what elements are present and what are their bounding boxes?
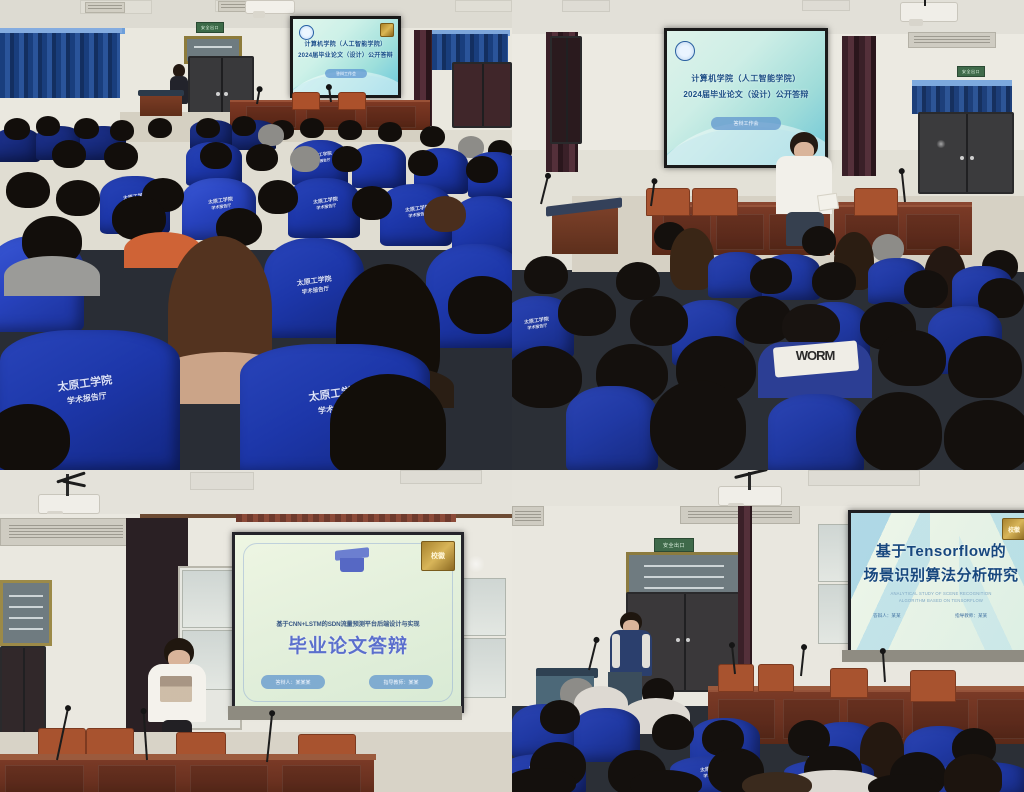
slide-line1: 计算机学院（人工智能学院） [667,73,825,85]
hall-door [918,112,1014,194]
slide-meta-presenter: 答辩人：某某 [873,613,901,619]
audience-head [878,330,946,386]
panel-top-right: 安全出口 计算机学院（人工智能学院） 2024届毕业论文（设计）公开答辩 答辩工… [512,0,1024,470]
stage-chair [854,188,898,216]
screen-base [842,650,1024,662]
audience-head-foreground [944,400,1024,470]
audience-head [448,276,512,334]
speaker [774,132,836,242]
stage-chair [718,664,754,692]
audience-head [332,146,362,172]
air-vent [512,506,544,526]
slide-line2: 2024届毕业论文（设计）公开答辩 [667,89,825,101]
audience-head [56,180,100,216]
window-curtain [912,86,1012,114]
audience-head [540,700,580,734]
projector-cable [924,0,926,6]
valance [236,514,456,522]
audience-head [378,122,402,142]
slide-pill: 答辩工作会 [325,69,367,78]
school-badge: 校徽 [1002,518,1024,540]
ceiling-tile [400,470,482,484]
exit-sign: 安全出口 [196,22,224,33]
handout-paper [817,193,839,212]
ceiling-tile [808,470,920,486]
projection-screen: 计算机学院（人工智能学院） 2024届毕业论文（设计）公开答辩 答辩工作会 [290,16,401,98]
audience-head [750,258,792,294]
panel-top-left: 安全出口 计算机学院（人工智能学院） 2024届毕业论文（设计）公开答辩 答辩工… [0,0,512,470]
audience-head [424,196,466,232]
audience-head [616,262,660,300]
audience-head [944,754,1002,792]
shirt-text: WORM [758,348,872,363]
audience-head [200,142,232,169]
university-emblem-icon [675,41,695,61]
exit-sign: 安全出口 [957,66,985,77]
projection-screen: 校徽 基于Tensorflow的 场景识别算法分析研究 ANALYTICAL S… [848,510,1024,656]
shirt-graphic [160,676,192,702]
audience-head [352,186,392,220]
slide-line1: 计算机学院（人工智能学院） [293,41,398,50]
audience-head [812,262,856,300]
audience-head [524,256,568,294]
audience-head [148,118,172,138]
slide-title-line2: 场景识别算法分析研究 [851,565,1024,587]
audience-head [36,116,60,136]
door-glare [936,140,946,148]
slide-english-line1: ANALYTICAL STUDY OF SCENE RECOGNITION [851,591,1024,596]
stage-chair [692,188,738,216]
audience-head-foreground [742,772,812,792]
audience-head [246,144,278,171]
audience-head [330,374,446,470]
wall-grill [0,580,52,646]
audience-head [904,270,948,308]
ceiling-tile [190,472,254,490]
audience-head [948,336,1022,398]
side-door [550,36,582,144]
slide-subtitle: 基于CNN+LSTM的SDN流量预测平台后端设计与实现 [235,619,461,628]
audience-head [258,124,284,146]
light-glare [466,556,486,572]
audience-head [52,140,86,168]
audience-head-foreground [650,380,746,470]
audience-head [408,150,438,176]
audience-head [74,118,99,139]
stage-chair [910,670,956,702]
audience-head [466,156,498,183]
audience-head [104,142,138,170]
audience-head [558,288,616,336]
lectern-top [138,90,184,96]
projector [900,2,958,22]
stage-chair [292,92,320,110]
seat: 太原工学院 学术报告厅 [288,178,360,238]
audience-head [4,118,30,140]
panel-bottom-left: 校徽 基于CNN+LSTM的SDN流量预测平台后端设计与实现 毕业论文答辩 答辩… [0,470,512,792]
audience-head [290,146,320,172]
slide-english-line2: ALGORITHM BASED ON TENSORFLOW [851,598,1024,603]
exit-sign: 安全出口 [654,538,694,552]
audience-head [338,120,362,140]
hall-door-right [452,62,512,128]
stage-curtain-right [842,36,876,176]
projector [38,494,100,514]
school-badge [380,23,394,37]
school-badge: 校徽 [421,541,455,571]
curtain-valance [0,28,122,33]
projector [245,0,295,14]
stage-chair [830,668,868,698]
audience-head [802,226,836,256]
audience-head-foreground [856,392,942,470]
seat [566,386,658,470]
seat-logo-line2: 学术报告厅 [302,286,330,296]
ceiling-tile [455,0,512,12]
seat [768,394,864,470]
air-vent [908,32,996,48]
slide-line2: 2024届毕业论文（设计）公开答辩 [293,52,398,61]
audience-head [232,116,256,136]
slide-pill-advisor: 指导教师：某某 [369,675,433,689]
seat-logo-line2: 学术报告厅 [66,391,107,405]
screen-base [228,706,462,720]
judges-table [0,758,374,792]
lectern [552,208,618,254]
ceiling-tile [562,0,610,12]
slide-pill-presenter: 答辩人：某某某 [261,675,325,689]
ceiling-tile [802,0,850,11]
air-conditioner [0,518,132,546]
audience-head [258,180,298,214]
audience-head [630,296,688,346]
lectern [140,94,182,116]
audience-worm-shirt: WORM [758,312,872,396]
audience-head [196,118,220,138]
audience-head [6,172,50,208]
photo-collage: 安全出口 计算机学院（人工智能学院） 2024届毕业论文（设计）公开答辩 答辩工… [0,0,1024,792]
slide-meta-advisor: 指导教师：某某 [955,613,987,619]
slide-title: 毕业论文答辩 [235,633,461,661]
panel-bottom-right: 安全出口 校徽 基于Tensorflow的 场景识别算法分析研究 ANALYTI… [512,470,1024,792]
seat-logo-line2: 学术报告厅 [527,323,548,331]
audience-shoulders [4,256,100,296]
university-emblem-icon [299,25,314,40]
audience-head [300,118,324,138]
slide-pill: 答辩工作会 [711,117,781,130]
projection-screen: 校徽 基于CNN+LSTM的SDN流量预测平台后端设计与实现 毕业论文答辩 答辩… [232,532,464,713]
window-pane [182,570,236,628]
audience-head [652,714,694,750]
audience-head [420,126,445,147]
audience-head [110,120,134,141]
graduation-cap-icon [335,549,369,573]
audience-head-foreground [630,770,702,792]
air-vent [85,2,125,13]
slide-title-line1: 基于Tensorflow的 [851,541,1024,563]
stage-chair [758,664,794,692]
window-curtain-left [0,30,120,98]
stage-chair [338,92,366,110]
seat-logo-line2: 学术报告厅 [316,203,337,211]
